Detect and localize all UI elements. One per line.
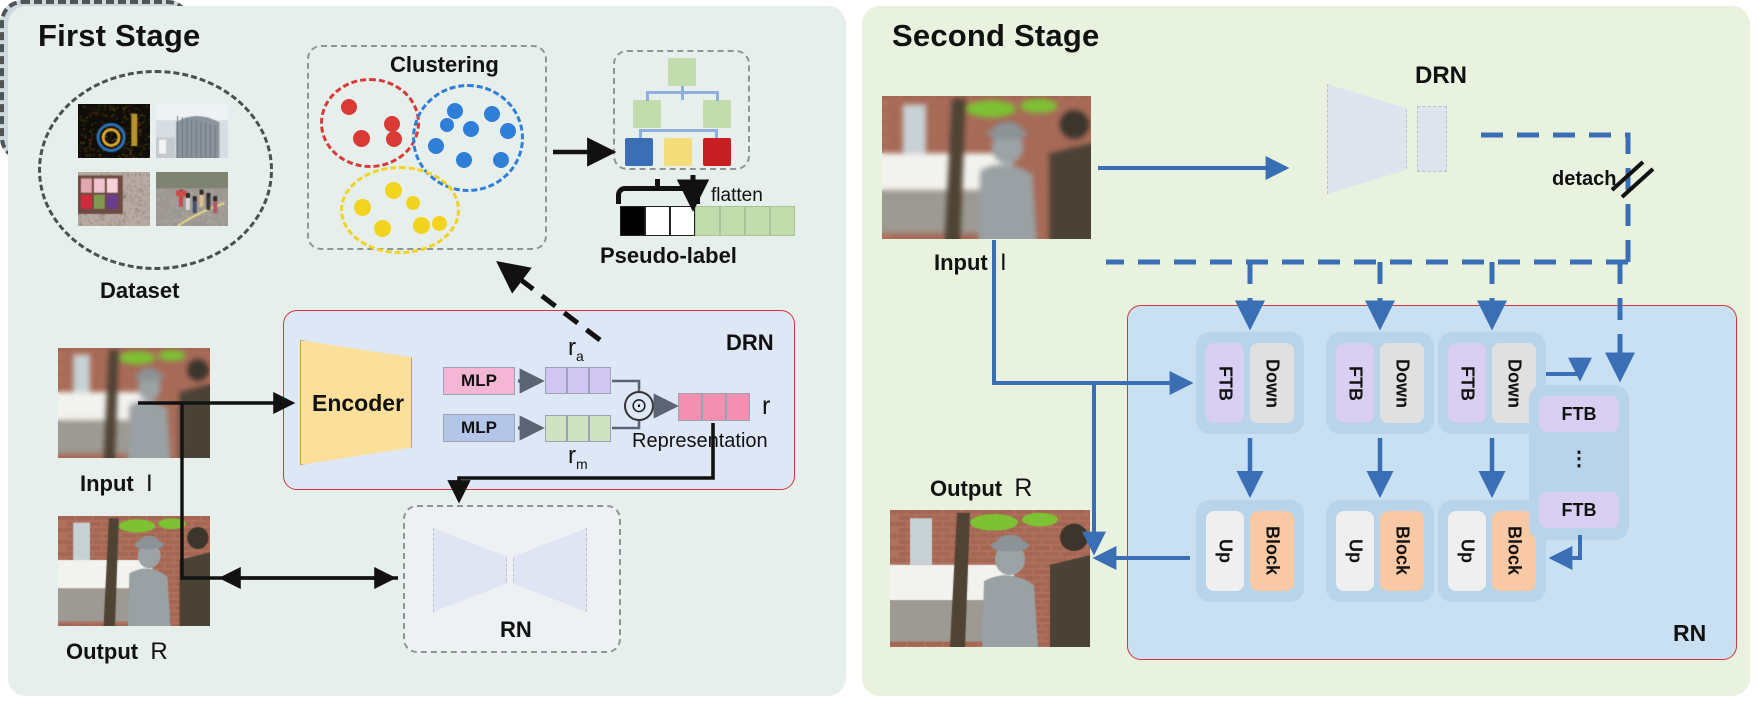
hadamard-product-icon: ⊙ <box>624 391 654 421</box>
representation-cell <box>678 393 702 421</box>
detach-label: detach <box>1552 168 1616 191</box>
tree-edge <box>715 129 718 138</box>
drn2-latent-ghost <box>1417 106 1447 172</box>
cluster-dot <box>406 196 420 210</box>
red-cluster-blob <box>320 78 420 168</box>
input-label-text-2: Input <box>934 250 988 275</box>
cluster-dot <box>447 103 463 119</box>
input-image-stage2 <box>882 96 1091 239</box>
input-label-text: Input <box>80 471 134 496</box>
input-symbol-text-2: I <box>1000 249 1007 276</box>
input-symbol-text: I <box>146 470 153 497</box>
tree-leaf-yellow <box>664 138 692 166</box>
dataset-thumb-2 <box>156 104 228 158</box>
rm-cell <box>589 415 611 442</box>
ra-cell <box>589 367 611 394</box>
pseudo-label-caption: Pseudo-label <box>600 243 737 269</box>
tree-leaf-red <box>703 138 731 166</box>
output-symbol-text-2: R <box>1014 474 1032 502</box>
input-caption-stage2: Input I <box>934 249 1007 277</box>
cluster-dot <box>493 152 509 168</box>
up-cell: Up <box>1448 511 1486 591</box>
input-caption-stage1: Input I <box>80 470 153 498</box>
pseudo-label-cell <box>745 206 770 236</box>
diagram-root: First Stage Dataset Clustering <box>0 0 1758 703</box>
cluster-dot <box>374 220 391 237</box>
tree-root-node <box>668 58 696 86</box>
cluster-dot <box>500 123 516 139</box>
cluster-dot <box>456 152 472 168</box>
cluster-dot <box>463 121 479 137</box>
output-label-text-2: Output <box>930 476 1002 501</box>
cluster-dot <box>440 118 454 132</box>
rm-sub: m <box>576 456 588 472</box>
down-cell: Down <box>1250 343 1294 423</box>
cluster-dot <box>428 138 444 154</box>
cluster-dot <box>484 106 500 122</box>
pseudo-label-cell <box>720 206 745 236</box>
cluster-dot <box>384 116 400 132</box>
block-cell: Block <box>1250 511 1294 591</box>
rn-label-stage1: RN <box>500 617 532 643</box>
ra-base: r <box>568 334 576 361</box>
clustering-label: Clustering <box>390 52 499 78</box>
cluster-dot <box>341 99 357 115</box>
bottleneck-ftb-top: FTB <box>1539 396 1619 432</box>
first-stage-title: First Stage <box>38 18 200 54</box>
dataset-thumb-4 <box>156 172 228 226</box>
bottleneck-dots: ⋮ <box>1529 446 1629 471</box>
representation-cell <box>726 393 750 421</box>
tree-edge <box>716 91 719 101</box>
output-caption-stage2: Output R <box>930 474 1032 503</box>
tree-mid-node <box>633 100 661 128</box>
dataset-ellipse <box>38 70 273 270</box>
tree-edge <box>646 91 649 101</box>
block-cell: Block <box>1380 511 1424 591</box>
down-cell: Down <box>1380 343 1424 423</box>
cluster-dot <box>354 199 371 216</box>
cluster-dot <box>413 217 430 234</box>
tree-edge <box>647 91 717 94</box>
rm-cell <box>545 415 567 442</box>
flatten-label: flatten <box>711 185 763 207</box>
dataset-label: Dataset <box>100 278 179 304</box>
up-cell: Up <box>1206 511 1244 591</box>
representation-cell <box>702 393 726 421</box>
pseudo-label-cell <box>695 206 720 236</box>
drn-label-stage2: DRN <box>1415 62 1467 90</box>
representation-label: Representation <box>632 430 768 453</box>
input-image-stage1 <box>58 348 210 458</box>
ra-cell <box>545 367 567 394</box>
output-image-stage1 <box>58 516 210 626</box>
mlp-a-box: MLP <box>443 367 515 395</box>
bottleneck-ftb-bottom: FTB <box>1539 492 1619 528</box>
tree-mid-node <box>703 100 731 128</box>
encoder-label: Encoder <box>312 390 404 417</box>
pseudo-label-cell <box>645 206 670 236</box>
dataset-thumb-1 <box>78 104 150 158</box>
cluster-dot <box>353 130 370 147</box>
cluster-dot <box>385 182 402 199</box>
pseudo-label-cell <box>670 206 695 236</box>
ra-label: ra <box>568 334 584 364</box>
dataset-thumb-3 <box>78 172 150 226</box>
cluster-dot <box>432 216 447 231</box>
ftb-cell: FTB <box>1336 343 1374 423</box>
output-caption-stage1: Output R <box>66 638 168 666</box>
pseudo-label-cell <box>770 206 795 236</box>
rm-base: r <box>568 442 576 469</box>
ftb-cell: FTB <box>1448 343 1486 423</box>
rn-label-stage2: RN <box>1673 620 1706 647</box>
output-symbol-text: R <box>150 638 167 665</box>
pseudo-label-brace-tick <box>655 179 660 188</box>
mlp-m-box: MLP <box>443 414 515 442</box>
ftb-cell: FTB <box>1206 343 1244 423</box>
output-image-stage2 <box>890 510 1090 647</box>
second-stage-title: Second Stage <box>892 18 1099 54</box>
r-label: r <box>762 392 770 421</box>
tree-edge <box>639 129 717 132</box>
drn-label-stage1: DRN <box>726 330 774 356</box>
pseudo-label-cell <box>620 206 645 236</box>
output-label-text: Output <box>66 639 138 664</box>
rm-cell <box>567 415 589 442</box>
tree-leaf-blue <box>625 138 653 166</box>
ra-sub: a <box>576 348 584 364</box>
ra-cell <box>567 367 589 394</box>
rm-label: rm <box>568 442 588 472</box>
cluster-dot <box>386 131 402 147</box>
up-cell: Up <box>1336 511 1374 591</box>
pseudo-label-brace <box>616 186 700 204</box>
